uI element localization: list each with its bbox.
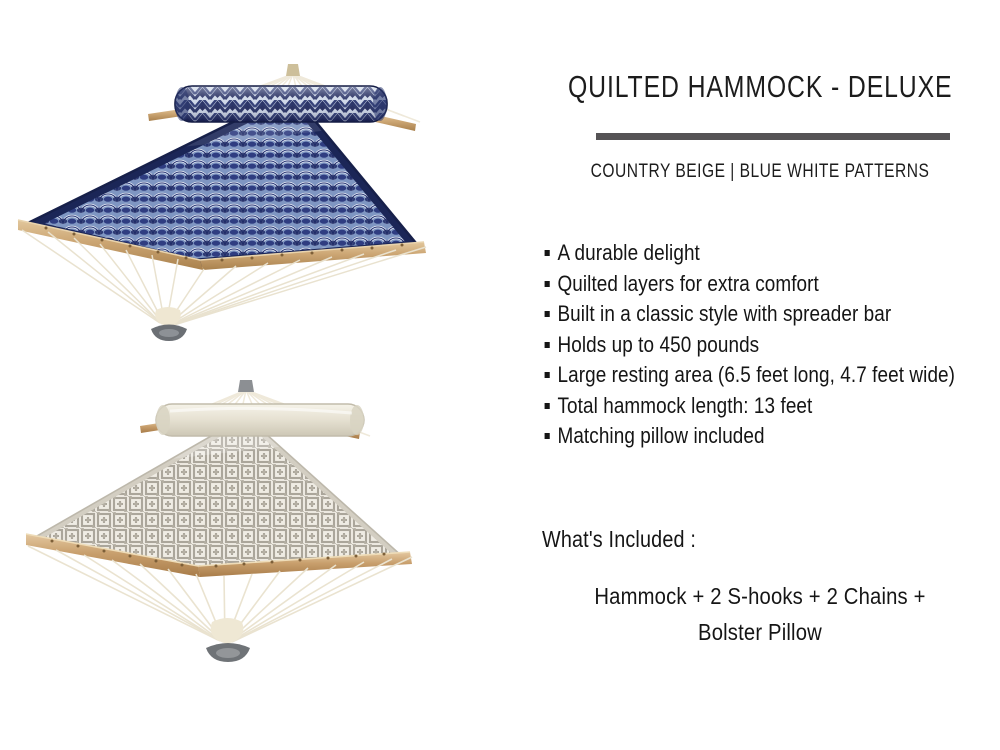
page-title: QUILTED HAMMOCK - DELUXE [568, 68, 952, 106]
product-info-panel: QUILTED HAMMOCK - DELUXE COUNTRY BEIGE |… [520, 0, 1000, 750]
included-contents: Hammock + 2 S-hooks + 2 Chains + Bolster… [563, 578, 957, 650]
included-heading: What's Included : [542, 524, 696, 554]
feature-item: Quilted layers for extra comfort [542, 269, 938, 299]
feature-item: Matching pillow included [542, 421, 938, 451]
rope-knot-top [286, 64, 300, 76]
product-image-beige-hammock [0, 368, 520, 698]
product-image-panel [0, 0, 520, 750]
rope-knot-top-beige [238, 380, 254, 392]
bolster-pillow-blue [175, 86, 387, 122]
feature-list: A durable delight Quilted layers for ext… [542, 238, 1000, 452]
rope-gather-beige [211, 618, 244, 644]
product-subtitle: COUNTRY BEIGE | BLUE WHITE PATTERNS [563, 160, 957, 184]
feature-item: Total hammock length: 13 feet [542, 391, 938, 421]
title-divider [596, 133, 950, 140]
bolster-pillow-beige [156, 404, 364, 436]
feature-item: A durable delight [542, 238, 938, 268]
product-image-blue-hammock [0, 48, 520, 368]
feature-item: Built in a classic style with spreader b… [542, 299, 938, 329]
feature-item: Holds up to 450 pounds [542, 330, 938, 360]
product-marketing-page: QUILTED HAMMOCK - DELUXE COUNTRY BEIGE |… [0, 0, 1000, 750]
feature-item: Large resting area (6.5 feet long, 4.7 f… [542, 360, 938, 390]
